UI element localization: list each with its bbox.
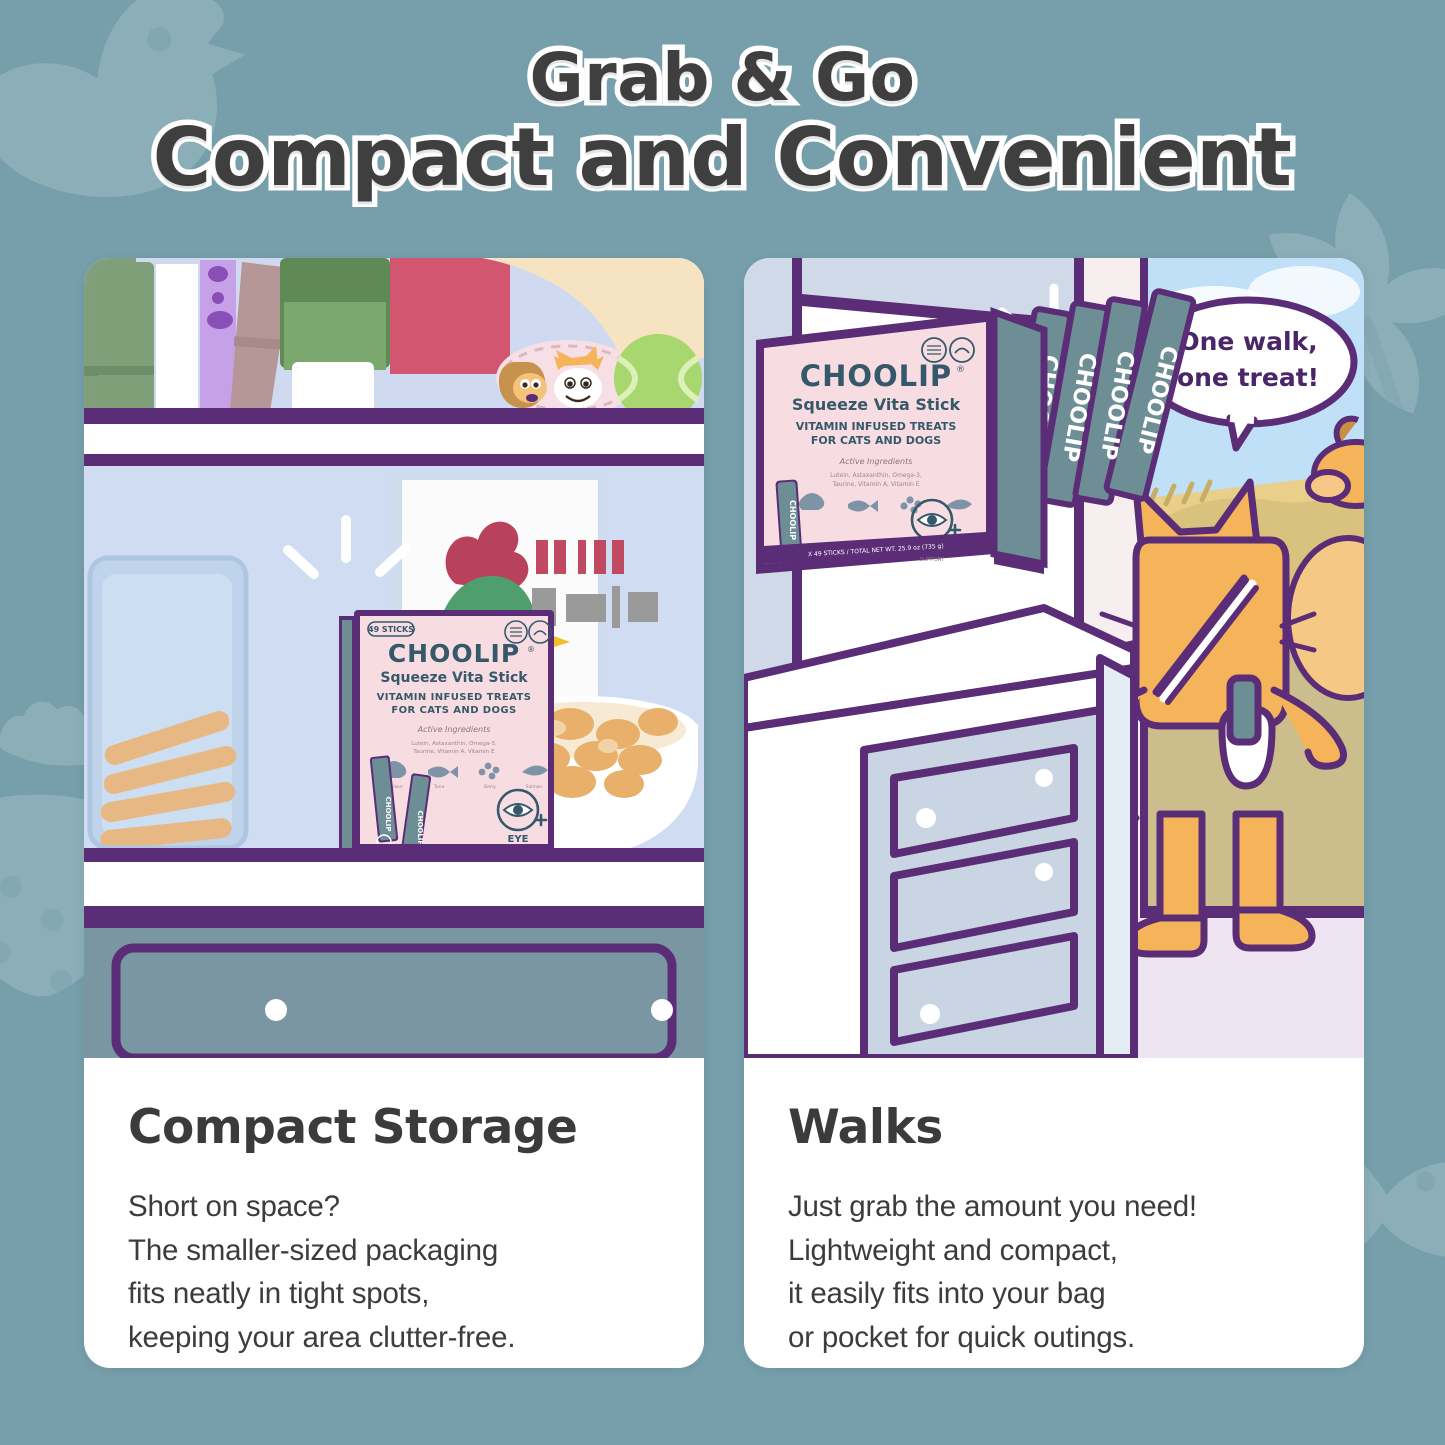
doorway-scene-svg: One walk, one treat! (744, 258, 1364, 1058)
card-title-walks: Walks (788, 1100, 1320, 1155)
grapes-icon (906, 496, 913, 503)
card-body-line: The smaller-sized packaging (128, 1229, 660, 1273)
drawer-cabinet (84, 920, 704, 1058)
book-green-2 (98, 262, 154, 412)
product-brand-mark: ® (527, 645, 535, 654)
card-body-line: Just grab the amount you need! (788, 1185, 1320, 1229)
product-subtitle: Squeeze Vita Stick (380, 670, 528, 686)
card-body-line: Lightweight and compact, (788, 1229, 1320, 1273)
card-body-line: keeping your area clutter-free. (128, 1316, 660, 1360)
svg-text:CHOOLIP: CHOOLIP (416, 810, 424, 845)
ingredients-line-1: Lutein, Astaxanthin, Omega-3, (411, 741, 497, 747)
shelf-scene-svg: 49 STICKS CHOOLIP ® Squeeze Vita Stick V… (84, 258, 704, 1058)
headline-line-2: Compact and Convenient (0, 117, 1445, 199)
card-body-line: Short on space? (128, 1185, 660, 1229)
speech-line-1: One walk, (1178, 327, 1317, 356)
card-body-line: or pocket for quick outings. (788, 1316, 1320, 1360)
book-white (156, 264, 198, 412)
box2-claim-2: FOR CATS AND DOGS (811, 434, 941, 447)
drawer-knob-right (651, 999, 673, 1021)
drawer-knob (1035, 769, 1053, 787)
product-claim-1: VITAMIN INFUSED TREATS (377, 692, 532, 703)
caption-compact-storage: Compact Storage Short on space? The smal… (84, 1058, 704, 1360)
ingredients-line-2: Taurine, Vitamin A, Vitamin E (412, 749, 495, 755)
feature-card-grid: 49 STICKS CHOOLIP ® Squeeze Vita Stick V… (84, 258, 1364, 1368)
box2-brand: CHOOLIP (800, 359, 952, 393)
product-box: 49 STICKS CHOOLIP ® Squeeze Vita Stick V… (339, 610, 554, 862)
drawer-knob (916, 808, 936, 828)
box2-subtitle: Squeeze Vita Stick (792, 395, 961, 414)
svg-text:CHOOLIP: CHOOLIP (384, 796, 392, 831)
feature-card-compact-storage: 49 STICKS CHOOLIP ® Squeeze Vita Stick V… (84, 258, 704, 1368)
box2-ing-heading: Active Ingredients (839, 457, 913, 466)
box2-ing-1: Lutein, Astaxanthin, Omega-3, (830, 472, 922, 479)
svg-text:Tuna: Tuna (433, 784, 445, 790)
illustration-doorway-scene: One walk, one treat! (744, 258, 1364, 1058)
ingredients-heading: Active Ingredients (417, 725, 491, 734)
tube-white-body (292, 362, 374, 414)
box-pink (390, 258, 510, 374)
card-body-walks: Just grab the amount you need! Lightweig… (788, 1185, 1320, 1360)
book-purple (200, 260, 236, 412)
eye-label: EYE (508, 834, 529, 845)
headline-line-1: Grab & Go (0, 44, 1445, 111)
product-count-badge: 49 STICKS (368, 625, 414, 634)
svg-text:Berry: Berry (484, 784, 496, 790)
product-brand: CHOOLIP (388, 639, 520, 668)
card-title-compact-storage: Compact Storage (128, 1100, 660, 1155)
svg-text:®: ® (956, 365, 965, 375)
feature-card-walks: One walk, one treat! (744, 258, 1364, 1368)
glass-jar (90, 558, 246, 851)
card-body-compact-storage: Short on space? The smaller-sized packag… (128, 1185, 660, 1360)
box2-ing-2: Taurine, Vitamin A, Vitamin E (831, 481, 919, 488)
box2-claim-1: VITAMIN INFUSED TREATS (796, 420, 957, 433)
drawer-knob (1035, 863, 1053, 881)
card-body-line: fits neatly in tight spots, (128, 1272, 660, 1316)
product-claim-2: FOR CATS AND DOGS (391, 705, 516, 716)
svg-text:CHOOLIP: CHOOLIP (788, 500, 797, 540)
headline: Grab & Go Compact and Convenient (0, 44, 1445, 199)
shelf-edge-top (84, 408, 704, 424)
svg-text:Salmon: Salmon (526, 784, 543, 790)
speech-line-2: one treat! (1177, 363, 1319, 392)
drawer-knob (920, 1004, 940, 1024)
card-body-line: it easily fits into your bag (788, 1272, 1320, 1316)
illustration-shelf-scene: 49 STICKS CHOOLIP ® Squeeze Vita Stick V… (84, 258, 704, 1058)
counter (744, 608, 1134, 1058)
drawer-knob-left (265, 999, 287, 1021)
caption-walks: Walks Just grab the amount you need! Lig… (744, 1058, 1364, 1360)
counter-side (1100, 658, 1134, 1058)
box2-eye-sub: SUPPORT (920, 557, 945, 563)
grapes-icon (485, 763, 492, 770)
